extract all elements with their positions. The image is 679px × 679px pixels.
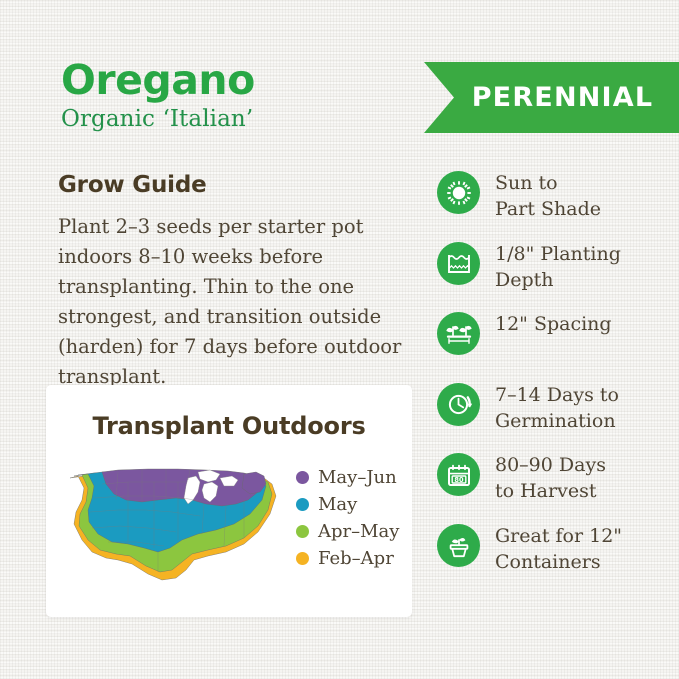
- feature-harvest-label: 80–90 Daysto Harvest: [495, 450, 606, 504]
- title-block: Oregano Organic ‘Italian’: [61, 58, 255, 134]
- grow-guide-body: Plant 2–3 seeds per starter pot indoors …: [58, 212, 416, 392]
- feature-harvest: 80 80–90 Daysto Harvest: [437, 450, 679, 508]
- feature-containers: Great for 12"Containers: [437, 521, 679, 579]
- legend-item: May–Jun: [296, 464, 399, 491]
- legend-dot-may-jun: [296, 471, 309, 484]
- page-title: Oregano: [61, 58, 255, 102]
- feature-containers-label: Great for 12"Containers: [495, 521, 622, 575]
- feature-sun-exposure-label: Sun toPart Shade: [495, 168, 601, 222]
- sun-icon: [437, 171, 480, 214]
- legend-item: Apr–May: [296, 518, 399, 545]
- feature-planting-depth: 1/8" PlantingDepth: [437, 239, 679, 297]
- feature-planting-depth-label: 1/8" PlantingDepth: [495, 239, 621, 293]
- usa-map-svg: [58, 448, 288, 588]
- usa-zone-map: [58, 448, 288, 588]
- spacing-icon: [437, 312, 480, 355]
- feature-spacing-label: 12" Spacing: [495, 309, 612, 337]
- growing-attributes-list: Sun toPart Shade 1/8" PlantingDepth: [437, 168, 679, 591]
- grow-guide-heading: Grow Guide: [58, 172, 416, 198]
- seed-packet-info-panel: Oregano Organic ‘Italian’ PERENNIAL Grow…: [0, 0, 679, 679]
- calendar-day-number: 80: [454, 475, 464, 483]
- feature-germination: 7–14 Days toGermination: [437, 380, 679, 438]
- pot-icon: [437, 524, 480, 567]
- legend-dot-feb-apr: [296, 552, 309, 565]
- legend-label-feb-apr: Feb–Apr: [318, 548, 394, 569]
- feature-sun-exposure: Sun toPart Shade: [437, 168, 679, 226]
- depth-icon: [437, 242, 480, 285]
- map-card-title: Transplant Outdoors: [46, 412, 412, 440]
- legend-label-may: May: [318, 494, 357, 515]
- transplant-map-card: Transplant Outdoors: [46, 385, 412, 617]
- legend-label-may-jun: May–Jun: [318, 467, 397, 488]
- map-legend: May–Jun May Apr–May Feb–Apr: [296, 464, 399, 572]
- clock-icon: [437, 383, 480, 426]
- map-card-body: May–Jun May Apr–May Feb–Apr: [46, 448, 412, 588]
- grow-guide-section: Grow Guide Plant 2–3 seeds per starter p…: [58, 172, 416, 392]
- legend-item: Feb–Apr: [296, 545, 399, 572]
- legend-item: May: [296, 491, 399, 518]
- product-subtitle: Organic ‘Italian’: [61, 104, 255, 134]
- calendar-icon: 80: [437, 453, 480, 496]
- lifecycle-badge-label: PERENNIAL: [450, 82, 654, 113]
- legend-label-apr-may: Apr–May: [318, 521, 399, 542]
- feature-spacing: 12" Spacing: [437, 309, 679, 367]
- legend-dot-may: [296, 498, 309, 511]
- legend-dot-apr-may: [296, 525, 309, 538]
- lifecycle-badge: PERENNIAL: [424, 62, 679, 133]
- feature-germination-label: 7–14 Days toGermination: [495, 380, 619, 434]
